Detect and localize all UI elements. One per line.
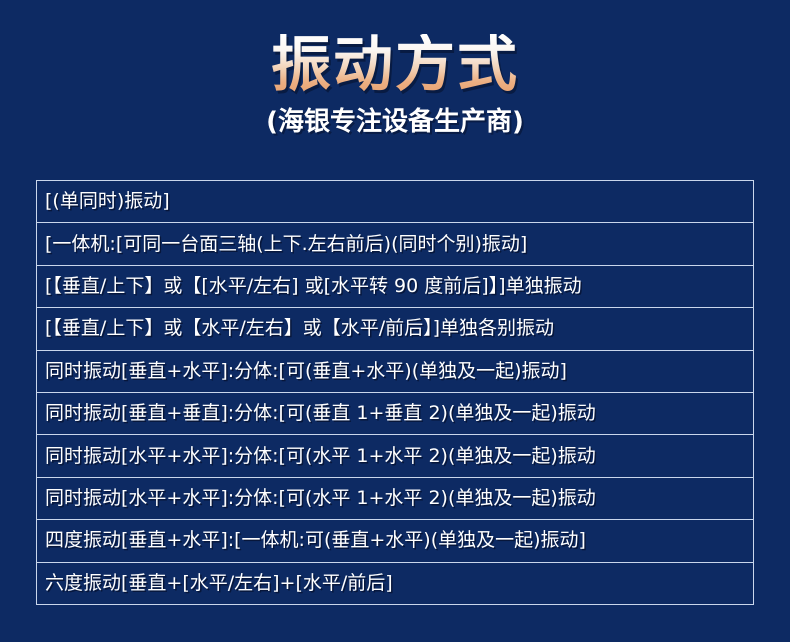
table-cell-mode: [【垂直/上下】或【水平/左右】或【水平/前后】]单独各别振动 [37, 308, 754, 350]
table-cell-mode: 同时振动[水平+水平]:分体:[可(水平 1+水平 2)(单独及一起)振动 [37, 435, 754, 477]
table-row: 同时振动[垂直+垂直]:分体:[可(垂直 1+垂直 2)(单独及一起)振动 [37, 392, 754, 434]
page-title: 振动方式 [271, 34, 519, 97]
table-cell-mode: 同时振动[水平+水平]:分体:[可(水平 1+水平 2)(单独及一起)振动 [37, 477, 754, 519]
table-cell-mode: 六度振动[垂直+[水平/左右]+[水平/前后] [37, 562, 754, 604]
page-header: 振动方式 (海银专注设备生产商) [0, 0, 790, 138]
table-cell-mode: 四度振动[垂直+水平]:[一体机:可(垂直+水平)(单独及一起)振动] [37, 520, 754, 562]
table-row: [(单同时)振动] [37, 181, 754, 223]
table-row: 同时振动[垂直+水平]:分体:[可(垂直+水平)(单独及一起)振动] [37, 350, 754, 392]
table-row: 同时振动[水平+水平]:分体:[可(水平 1+水平 2)(单独及一起)振动 [37, 435, 754, 477]
table-row: 四度振动[垂直+水平]:[一体机:可(垂直+水平)(单独及一起)振动] [37, 520, 754, 562]
table-cell-mode: [(单同时)振动] [37, 181, 754, 223]
table-cell-mode: 同时振动[垂直+垂直]:分体:[可(垂直 1+垂直 2)(单独及一起)振动 [37, 392, 754, 434]
vibration-modes-table-container: [(单同时)振动] [一体机:[可同一台面三轴(上下.左右前后)(同时个别)振动… [36, 180, 754, 605]
vibration-modes-table-body: [(单同时)振动] [一体机:[可同一台面三轴(上下.左右前后)(同时个别)振动… [37, 181, 754, 605]
table-row: 同时振动[水平+水平]:分体:[可(水平 1+水平 2)(单独及一起)振动 [37, 477, 754, 519]
table-row: [【垂直/上下】或【[水平/左右] 或[水平转 90 度前后]】]单独振动 [37, 265, 754, 307]
table-row: [【垂直/上下】或【水平/左右】或【水平/前后】]单独各别振动 [37, 308, 754, 350]
table-cell-mode: [一体机:[可同一台面三轴(上下.左右前后)(同时个别)振动] [37, 223, 754, 265]
page-subtitle: (海银专注设备生产商) [0, 101, 790, 138]
table-row: [一体机:[可同一台面三轴(上下.左右前后)(同时个别)振动] [37, 223, 754, 265]
table-cell-mode: [【垂直/上下】或【[水平/左右] 或[水平转 90 度前后]】]单独振动 [37, 265, 754, 307]
vibration-modes-table: [(单同时)振动] [一体机:[可同一台面三轴(上下.左右前后)(同时个别)振动… [36, 180, 754, 605]
table-cell-mode: 同时振动[垂直+水平]:分体:[可(垂直+水平)(单独及一起)振动] [37, 350, 754, 392]
table-row: 六度振动[垂直+[水平/左右]+[水平/前后] [37, 562, 754, 604]
